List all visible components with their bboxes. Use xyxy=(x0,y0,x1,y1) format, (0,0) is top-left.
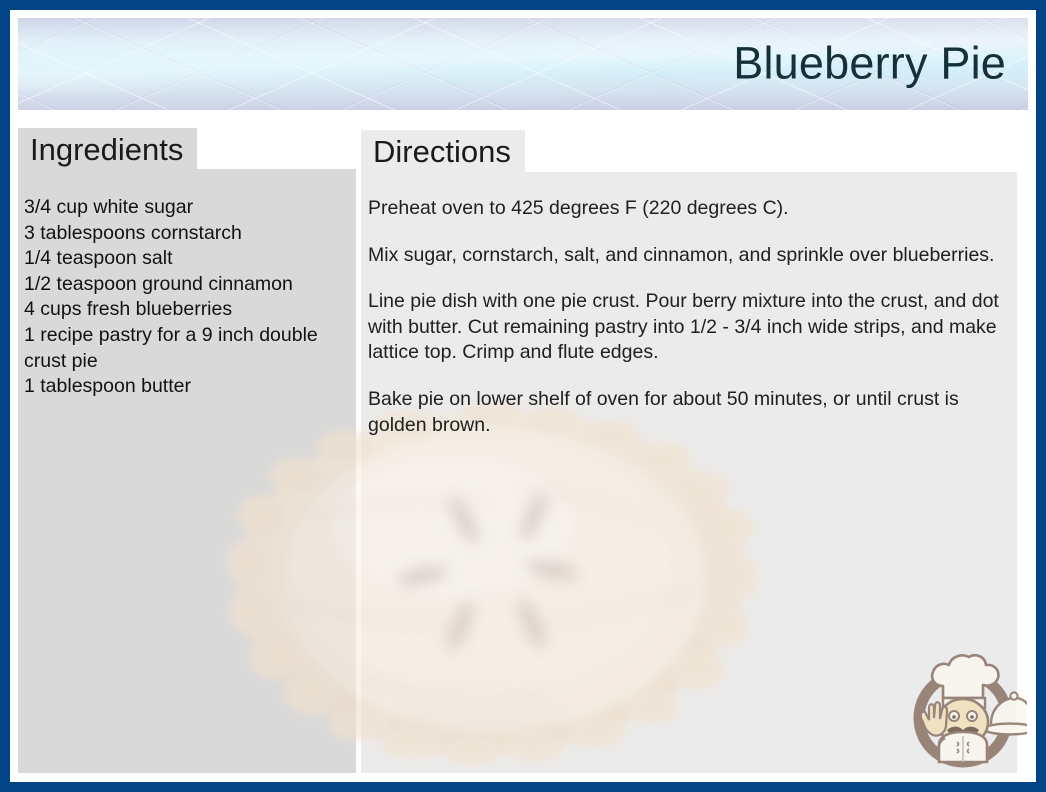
direction-step: Preheat oven to 425 degrees F (220 degre… xyxy=(368,196,1003,222)
list-item: 3 tablespoons cornstarch xyxy=(24,221,346,247)
frame-border-bottom xyxy=(0,782,1046,792)
ingredients-list: 3/4 cup white sugar 3 tablespoons cornst… xyxy=(18,169,356,400)
list-item: 1/4 teaspoon salt xyxy=(24,246,346,272)
direction-step: Bake pie on lower shelf of oven for abou… xyxy=(368,387,1003,438)
chef-with-cloche-logo xyxy=(899,646,1027,773)
list-item: 1/2 teaspoon ground cinnamon xyxy=(24,272,346,298)
recipe-card-slide: Blueberry Pie Ingredients 3/4 cup white … xyxy=(0,0,1046,792)
list-item: 3/4 cup white sugar xyxy=(24,195,346,221)
ingredients-heading: Ingredients xyxy=(18,128,197,169)
frame-border-right xyxy=(1036,0,1046,792)
direction-step: Mix sugar, cornstarch, salt, and cinnamo… xyxy=(368,243,1003,269)
header-banner: Blueberry Pie xyxy=(18,18,1028,110)
directions-steps: Preheat oven to 425 degrees F (220 degre… xyxy=(361,172,1017,438)
frame-border-left xyxy=(0,0,10,792)
frame-border-top xyxy=(0,0,1046,10)
page-title: Blueberry Pie xyxy=(733,41,1006,86)
ingredients-panel: 3/4 cup white sugar 3 tablespoons cornst… xyxy=(18,169,356,773)
directions-heading: Directions xyxy=(361,130,525,172)
list-item: 1 tablespoon butter xyxy=(24,374,346,400)
list-item: 1 recipe pastry for a 9 inch double crus… xyxy=(24,323,346,374)
direction-step: Line pie dish with one pie crust. Pour b… xyxy=(368,289,1003,366)
list-item: 4 cups fresh blueberries xyxy=(24,297,346,323)
